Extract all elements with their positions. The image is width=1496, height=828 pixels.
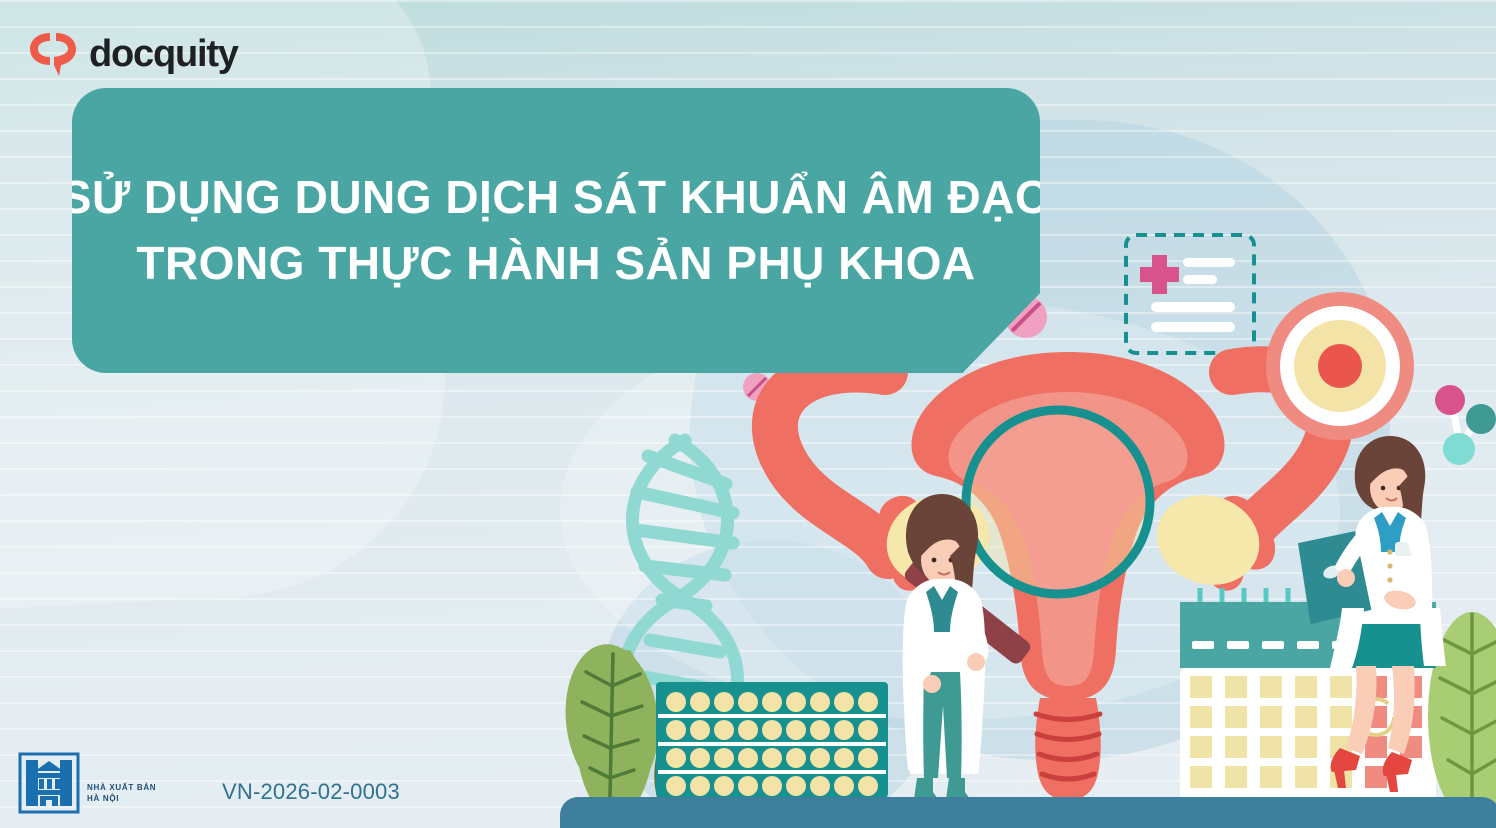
docquity-logo[interactable]: docquity <box>26 28 238 78</box>
document-code: VN-2026-02-0003 <box>222 779 400 805</box>
molecule-right-icon <box>1435 385 1496 465</box>
title-line-2: TRONG THỰC HÀNH SẢN PHỤ KHOA <box>136 231 975 296</box>
bottom-bar <box>560 797 1496 828</box>
hanoi-publishing-house-gate-icon <box>18 752 80 814</box>
docquity-wordmark: docquity <box>89 35 238 73</box>
publisher-name: NHÀ XUẤT BẢN HÀ NỘI <box>87 783 156 814</box>
docquity-c-speech-bubble-icon <box>26 28 80 78</box>
publisher-logo: NHÀ XUẤT BẢN HÀ NỘI <box>18 752 156 814</box>
title-card: SỬ DỤNG DUNG DỊCH SÁT KHUẨN ÂM ĐẠO TRONG… <box>72 88 1040 373</box>
leaf-plant-right-icon <box>1428 612 1496 820</box>
publisher-line-2: HÀ NỘI <box>87 794 156 805</box>
title-line-1: SỬ DỤNG DUNG DỊCH SÁT KHUẨN ÂM ĐẠO <box>61 165 1051 230</box>
publisher-line-1: NHÀ XUẤT BẢN <box>87 783 156 794</box>
slide-canvas: docquity SỬ DỤNG DUNG DỊCH SÁT KHUẨN ÂM … <box>0 0 1496 828</box>
